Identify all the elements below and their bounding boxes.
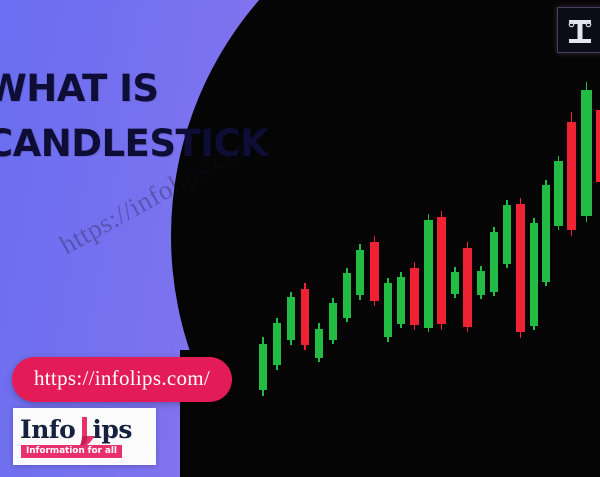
candlestick-16: [477, 266, 485, 299]
candle-body: [542, 185, 550, 282]
website-url-pill[interactable]: https://infolips.com/: [12, 357, 232, 402]
candle-body: [437, 217, 446, 324]
candle-body: [424, 220, 433, 328]
candle-body: [596, 110, 600, 182]
candle-body: [581, 90, 592, 216]
candle-body: [490, 232, 498, 292]
candle-body: [554, 161, 563, 226]
candlestick-7: [356, 244, 364, 300]
candle-body: [356, 250, 364, 295]
candle-body: [315, 329, 323, 358]
candle-body: [530, 223, 538, 326]
logo-wordmark: InfoLips: [20, 415, 132, 444]
candle-body: [301, 289, 309, 345]
candle-body: [384, 283, 392, 337]
promo-graphic: https://infolips.com/ WHAT IS CANDLESTIC…: [0, 0, 600, 477]
candlestick-11: [410, 262, 419, 330]
logo-word-left: Info: [20, 415, 75, 444]
candle-body: [329, 303, 337, 340]
candle-body: [397, 277, 405, 324]
candle-body: [343, 273, 351, 318]
candlestick-21: [542, 180, 550, 286]
candlestick-18: [503, 200, 511, 268]
candle-body: [451, 272, 459, 294]
candlestick-19: [516, 198, 525, 338]
page-title: WHAT IS CANDLESTICK: [0, 62, 316, 172]
serif-capital-i-icon: [558, 8, 600, 52]
headline-line-2: CANDLESTICK: [0, 117, 316, 172]
infolips-logo[interactable]: InfoLips Information for all: [13, 408, 156, 465]
candle-body: [463, 248, 472, 327]
candle-body: [370, 242, 379, 301]
logo-word-right: ips: [92, 415, 132, 444]
candlestick-0: [259, 337, 267, 396]
candlestick-13: [437, 211, 446, 330]
candle-body: [503, 205, 511, 264]
headline-line-1: WHAT IS: [0, 62, 316, 117]
candlestick-3: [301, 283, 309, 350]
logo-tagline: Information for all: [21, 445, 122, 458]
candle-body: [287, 297, 295, 340]
candlestick-8: [370, 236, 379, 306]
candlestick-15: [463, 242, 472, 332]
candle-body: [410, 268, 419, 325]
candlestick-14: [451, 267, 459, 298]
candlestick-6: [343, 268, 351, 322]
candlestick-4: [315, 323, 323, 362]
corner-watermark-badge: [557, 7, 600, 53]
candlestick-22: [554, 156, 563, 230]
candle-body: [567, 122, 576, 230]
candlestick-5: [329, 298, 337, 344]
candlestick-12: [424, 214, 433, 332]
candlestick-2: [287, 292, 295, 345]
candle-body: [516, 204, 525, 332]
candlestick-24: [581, 82, 592, 222]
candlestick-20: [530, 218, 538, 330]
candle-body: [477, 271, 485, 295]
candlestick-23: [567, 112, 576, 236]
candlestick-17: [490, 227, 498, 296]
candlestick-10: [397, 272, 405, 328]
candlestick-25: [596, 102, 600, 188]
candlestick-1: [273, 318, 281, 370]
candle-body: [273, 323, 281, 365]
candlestick-9: [384, 278, 392, 342]
candle-body: [259, 344, 267, 390]
